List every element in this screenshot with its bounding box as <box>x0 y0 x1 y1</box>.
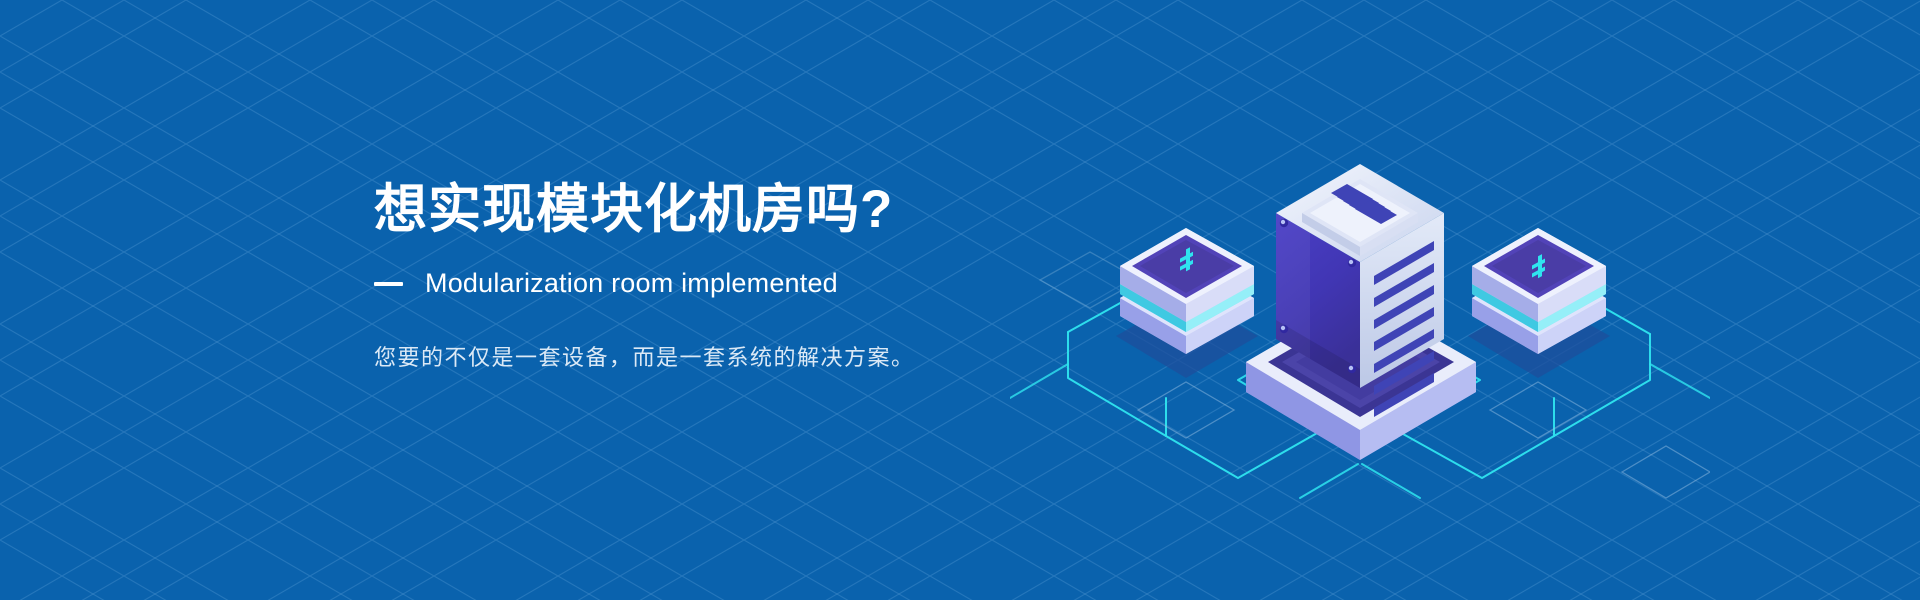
subhead-row: Modularization room implemented <box>374 269 1134 299</box>
server-tower <box>1246 164 1476 460</box>
subtitle: Modularization room implemented <box>425 268 838 299</box>
dash-rule-icon <box>374 282 403 286</box>
hero-banner: 想实现模块化机房吗? Modularization room implement… <box>0 0 1920 600</box>
page-title: 想实现模块化机房吗? <box>374 178 1134 243</box>
hero-text-block: 想实现模块化机房吗? Modularization room implement… <box>374 178 1134 396</box>
description-text: 您要的不仅是一套设备，而是一套系统的解决方案。 <box>374 341 1134 374</box>
